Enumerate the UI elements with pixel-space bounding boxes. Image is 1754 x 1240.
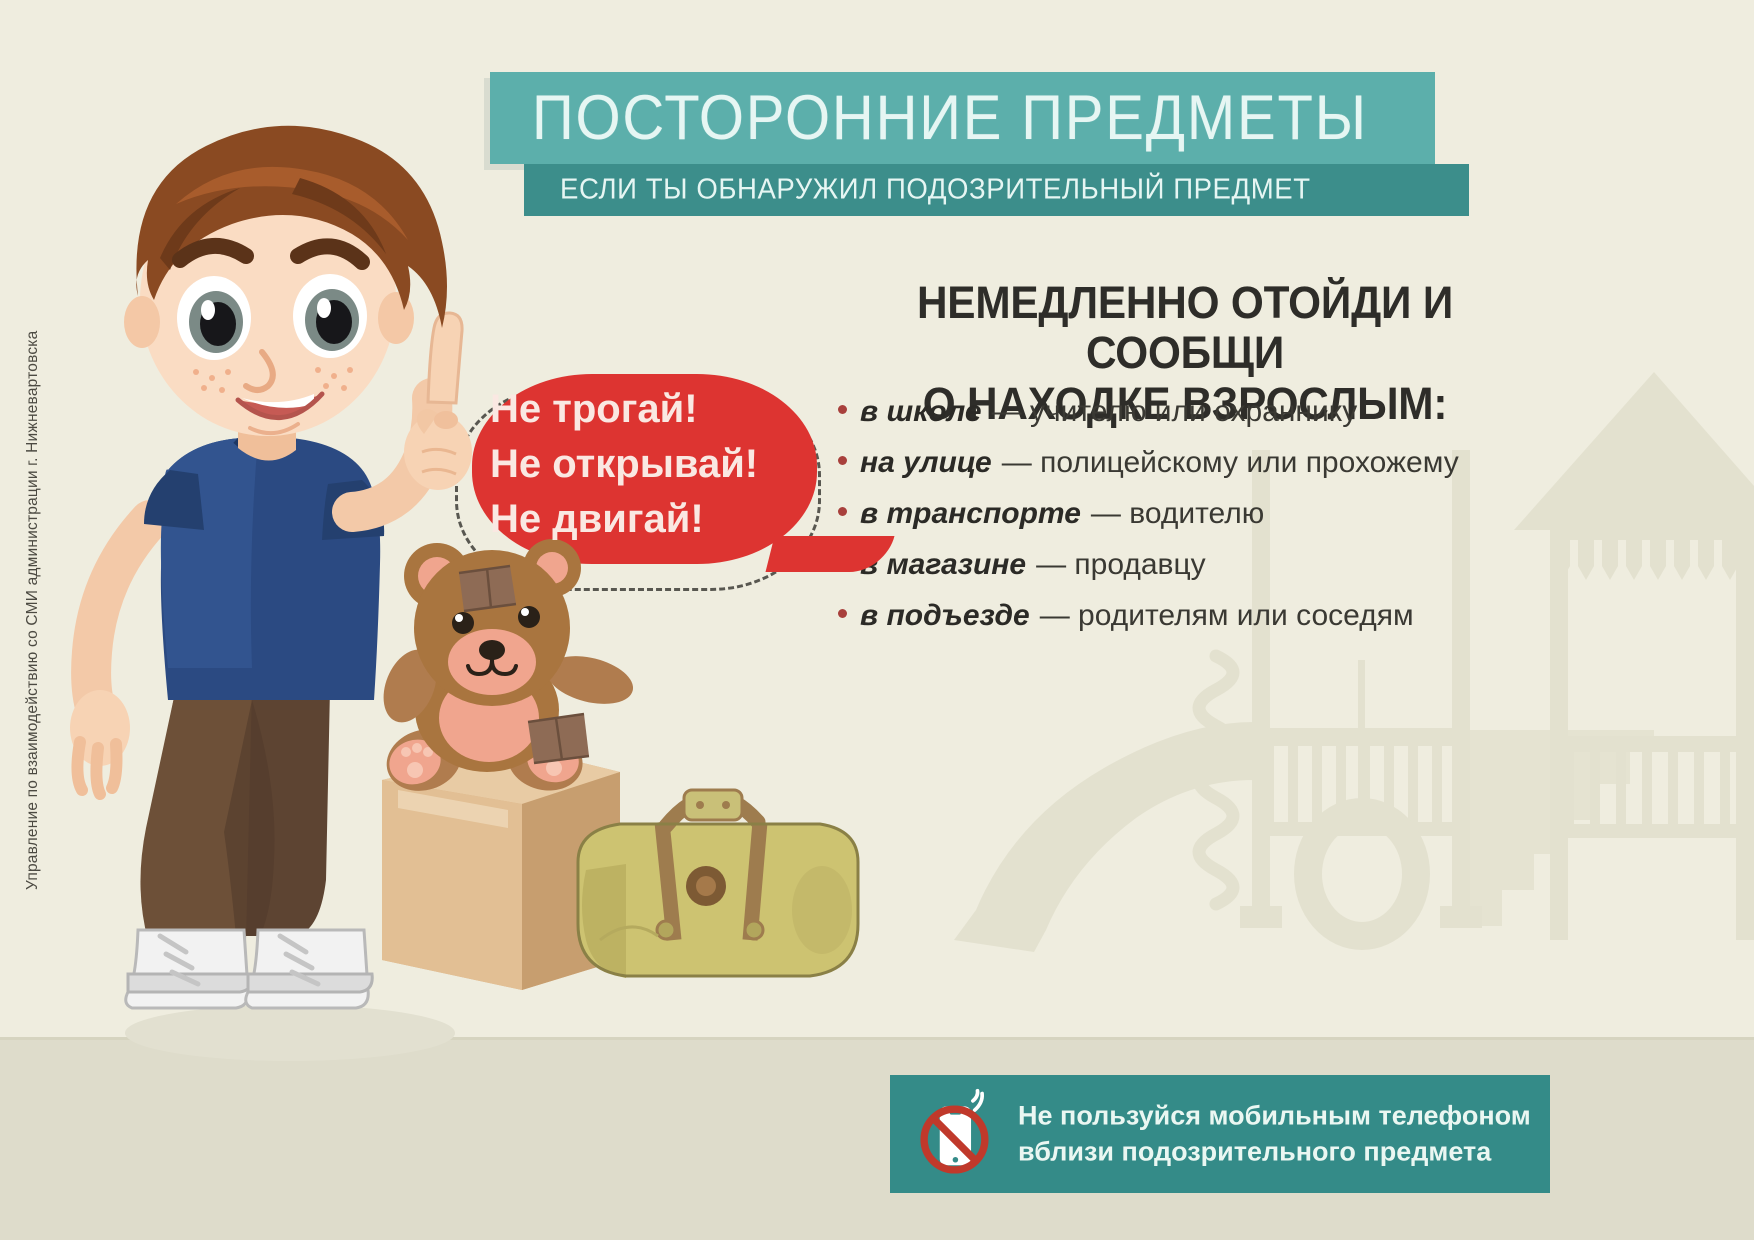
page-title: ПОСТОРОННИЕ ПРЕДМЕТЫ bbox=[532, 82, 1368, 154]
list-item: в подъезде — родителям или соседям bbox=[838, 599, 1558, 632]
bullet-dot-icon bbox=[838, 609, 847, 618]
headline-line-1: НЕМЕДЛЕННО ОТОЙДИ И СООБЩИ bbox=[851, 278, 1518, 379]
bullet-dot-icon bbox=[838, 507, 847, 516]
duffel-bag bbox=[578, 790, 858, 978]
list-item-place: в подъезде bbox=[860, 599, 1030, 632]
list-item-target: — продавцу bbox=[1036, 548, 1206, 581]
list-item-target: — учителю или охраннику bbox=[992, 395, 1358, 428]
list-item-place: на улице bbox=[860, 446, 992, 479]
list-item-place: в транспорте bbox=[860, 497, 1081, 530]
poster-root: Управление по взаимодействию со СМИ адми… bbox=[0, 0, 1754, 1240]
right-shoe bbox=[246, 930, 373, 1008]
credit-vertical-text: Управление по взаимодействию со СМИ адми… bbox=[16, 250, 50, 890]
footer-line-1: Не пользуйся мобильным телефоном bbox=[1018, 1098, 1531, 1134]
list-item-target: — водителю bbox=[1091, 497, 1264, 530]
bubble-line-2: Не открывай! bbox=[490, 437, 820, 492]
bubble-line-1: Не трогай! bbox=[490, 382, 820, 437]
list-item: в школе — учителю или охраннику bbox=[838, 395, 1558, 428]
advice-list: в школе — учителю или охраннику на улице… bbox=[838, 395, 1558, 650]
list-item: на улице — полицейскому или прохожему bbox=[838, 446, 1558, 479]
boy-shadow bbox=[125, 1005, 455, 1061]
speech-bubble-text: Не трогай! Не открывай! Не двигай! bbox=[490, 382, 820, 548]
bubble-line-3: Не двигай! bbox=[490, 492, 820, 547]
no-mobile-phone-icon bbox=[914, 1088, 1006, 1180]
footer-warning-text: Не пользуйся мобильным телефоном вблизи … bbox=[1018, 1098, 1531, 1171]
bullet-dot-icon bbox=[838, 456, 847, 465]
list-item-place: в школе bbox=[860, 395, 982, 428]
footer-line-2: вблизи подозрительного предмета bbox=[1018, 1134, 1531, 1170]
list-item: в магазине — продавцу bbox=[838, 548, 1558, 581]
subtitle-banner: ЕСЛИ ТЫ ОБНАРУЖИЛ ПОДОЗРИТЕЛЬНЫЙ ПРЕДМЕТ bbox=[524, 164, 1469, 216]
footer-warning-bar: Не пользуйся мобильным телефоном вблизи … bbox=[890, 1075, 1550, 1193]
boy-character bbox=[70, 126, 472, 1008]
list-item-target: — родителям или соседям bbox=[1040, 599, 1414, 632]
list-item: в транспорте — водителю bbox=[838, 497, 1558, 530]
bullet-dot-icon bbox=[838, 405, 847, 414]
list-item-target: — полицейскому или прохожему bbox=[1002, 446, 1459, 479]
left-shoe bbox=[126, 930, 253, 1008]
title-banner: ПОСТОРОННИЕ ПРЕДМЕТЫ bbox=[490, 72, 1435, 164]
page-subtitle: ЕСЛИ ТЫ ОБНАРУЖИЛ ПОДОЗРИТЕЛЬНЫЙ ПРЕДМЕТ bbox=[560, 174, 1311, 207]
cardboard-box bbox=[382, 748, 620, 990]
